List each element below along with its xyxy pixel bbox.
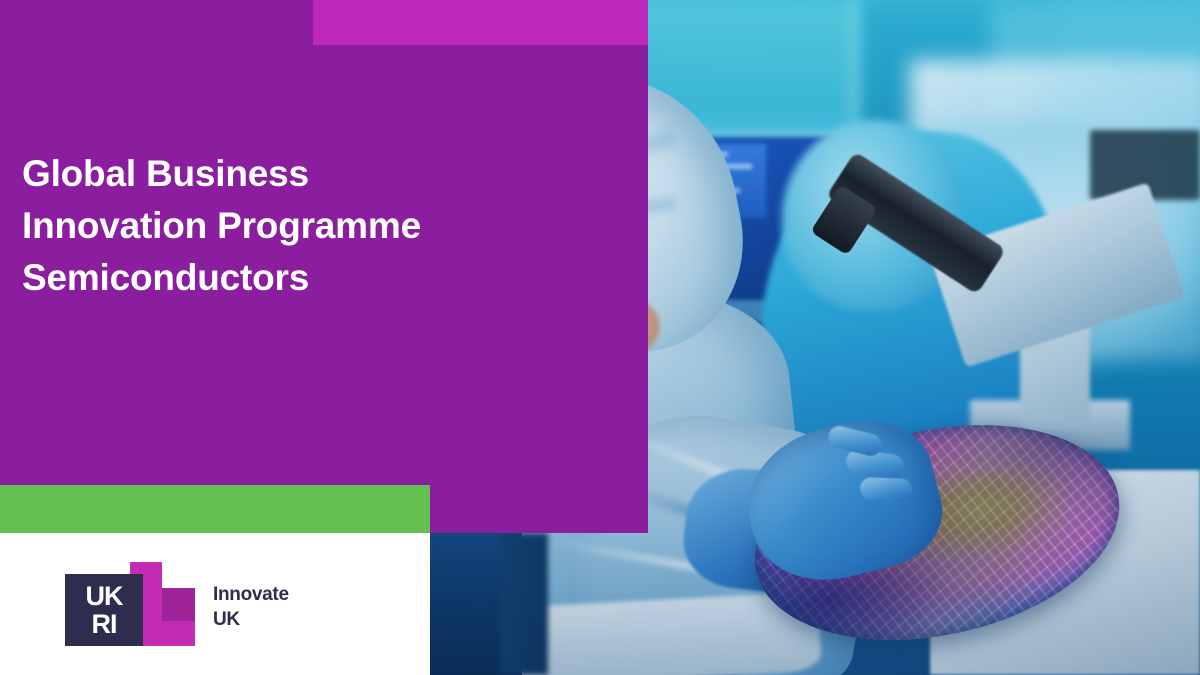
- magenta-accent-band: [313, 0, 648, 45]
- banner-canvas: Global Business Innovation Programme Sem…: [0, 0, 1200, 675]
- ukri-letters-top: UK: [86, 582, 123, 610]
- ukri-lettering: UK RI: [65, 574, 143, 646]
- page-title: Global Business Innovation Programme Sem…: [22, 148, 622, 304]
- innovate-uk-logo[interactable]: UK RI Innovate UK: [65, 562, 315, 646]
- glove-finger: [860, 477, 913, 501]
- logo-pink-block-dark: [162, 588, 195, 621]
- green-accent-band: [0, 485, 430, 533]
- wordmark-line-2: UK: [213, 607, 289, 632]
- title-line-3: Semiconductors: [22, 252, 622, 304]
- title-line-1: Global Business: [22, 148, 622, 200]
- innovate-uk-wordmark: Innovate UK: [213, 582, 289, 632]
- ukri-logo-mark: UK RI: [65, 562, 195, 646]
- wordmark-line-1: Innovate: [213, 582, 289, 607]
- purple-top-left-block: [0, 0, 313, 45]
- photo-dark-left-edge-blend: [500, 533, 548, 675]
- title-line-2: Innovation Programme: [22, 200, 622, 252]
- ukri-letters-bottom: RI: [92, 610, 117, 638]
